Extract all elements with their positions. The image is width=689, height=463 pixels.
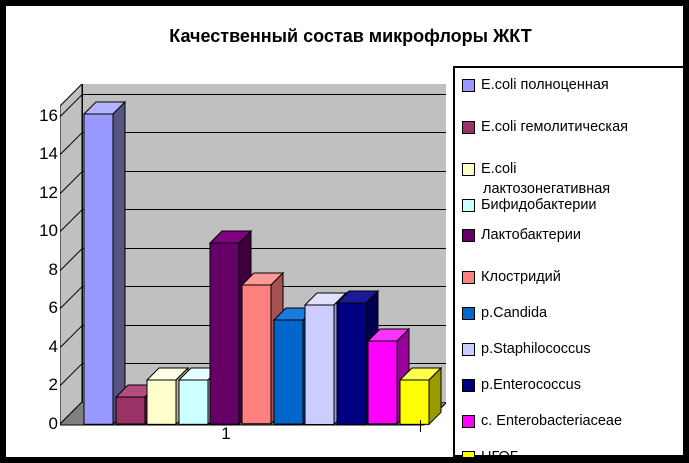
legend-swatch-icon	[462, 121, 475, 134]
legend-swatch-icon	[462, 379, 475, 392]
bar-front-face	[400, 380, 429, 424]
y-tick-label: 14	[14, 145, 58, 162]
gridline-horizontal	[82, 209, 446, 210]
bar-front-face	[210, 243, 239, 424]
legend-item-8[interactable]: p.Staphilococcus	[462, 340, 591, 358]
legend-item-label: E.coli гемолитическая	[481, 118, 628, 136]
y-tick-label: 0	[14, 415, 58, 432]
legend-swatch-icon	[462, 79, 475, 92]
gridline-horizontal	[82, 171, 446, 172]
x-axis-label: 1	[186, 424, 266, 444]
chart-legend: E.coli полноценнаяE.coli гемолитическаяE…	[453, 66, 685, 457]
bar-front-face	[116, 397, 145, 424]
legend-swatch-icon	[462, 229, 475, 242]
legend-swatch-icon	[462, 307, 475, 320]
legend-item-label: Бифидобактерии	[481, 196, 597, 214]
gridline-horizontal	[82, 248, 446, 249]
legend-item-label: НГОБ	[481, 448, 519, 463]
bar-front-face	[337, 303, 366, 424]
legend-item-label: Клостридий	[481, 268, 561, 286]
y-tick-label: 6	[14, 299, 58, 316]
bar-side-face	[113, 102, 125, 424]
bar-front-face	[147, 380, 176, 424]
bar-1[interactable]	[84, 102, 126, 424]
legend-item-2[interactable]: E.coli гемолитическая	[462, 118, 628, 136]
chart-window: Качественный состав микрофлоры ЖКТ 02468…	[0, 0, 689, 463]
legend-item-label: p.Enterococcus	[481, 376, 581, 394]
legend-item-1[interactable]: E.coli полноценная	[462, 76, 609, 94]
y-tick-label: 2	[14, 376, 58, 393]
legend-item-11[interactable]: НГОБ	[462, 448, 519, 463]
x-axis-tick	[420, 420, 421, 432]
legend-item-4[interactable]: Бифидобактерии	[462, 196, 597, 214]
gridline-horizontal	[82, 132, 446, 133]
gridline-horizontal	[82, 94, 446, 95]
legend-swatch-icon	[462, 271, 475, 284]
legend-item-label: c. Enterobacteriaceae	[481, 412, 622, 430]
legend-item-label: E.coli	[481, 160, 516, 178]
plot-area	[60, 84, 446, 424]
legend-item-9[interactable]: p.Enterococcus	[462, 376, 581, 394]
legend-item-label: E.coli полноценная	[481, 76, 609, 94]
bar-front-face	[274, 320, 303, 424]
bar-front-face	[179, 380, 208, 424]
legend-item-7[interactable]: p.Candida	[462, 304, 547, 322]
legend-item-label: p.Candida	[481, 304, 547, 322]
bar-front-face	[368, 341, 397, 424]
y-tick-label: 8	[14, 261, 58, 278]
legend-item-5[interactable]: Лактобактерии	[462, 226, 581, 244]
legend-item-label: Лактобактерии	[481, 226, 581, 244]
legend-swatch-icon	[462, 415, 475, 428]
legend-swatch-icon	[462, 343, 475, 356]
bar-front-face	[242, 285, 271, 424]
y-tick-label: 4	[14, 338, 58, 355]
y-tick-label: 10	[14, 222, 58, 239]
legend-swatch-icon	[462, 199, 475, 212]
y-tick-label: 16	[14, 107, 58, 124]
bar-front-face	[84, 114, 113, 424]
chart-title: Качественный состав микрофлоры ЖКТ	[6, 26, 689, 47]
legend-swatch-icon	[462, 451, 475, 463]
bar-11[interactable]	[400, 368, 442, 424]
y-tick-label: 12	[14, 184, 58, 201]
bar-front-face	[305, 305, 334, 424]
legend-item-label: p.Staphilococcus	[481, 340, 591, 358]
legend-item-6[interactable]: Клостридий	[462, 268, 561, 286]
legend-item-3[interactable]: E.coli	[462, 160, 516, 178]
legend-item-10[interactable]: c. Enterobacteriaceae	[462, 412, 622, 430]
legend-swatch-icon	[462, 163, 475, 176]
